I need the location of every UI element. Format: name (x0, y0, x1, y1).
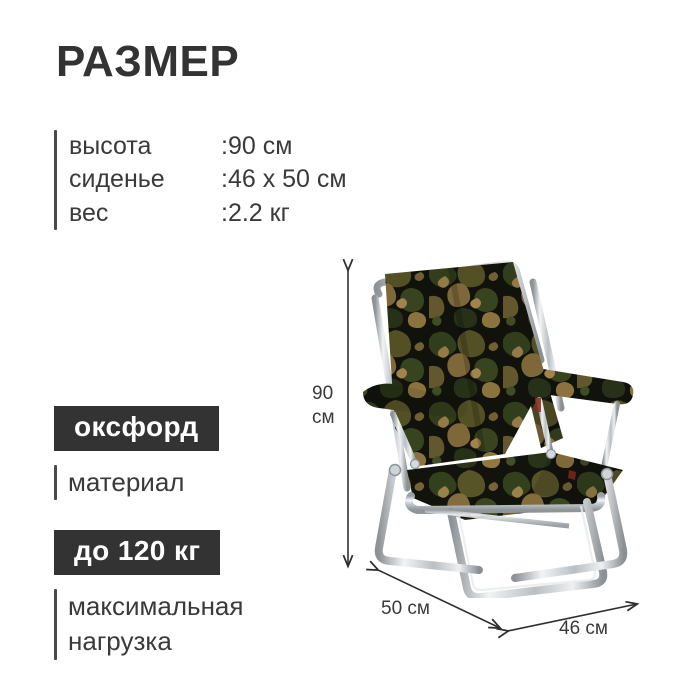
max-load-accent-bar (54, 589, 57, 660)
specs-accent-bar (54, 130, 57, 230)
feature-max-load: до 120 кг максимальная нагрузка (54, 530, 243, 660)
spec-separator: : (221, 130, 228, 163)
spec-value: 2.2 кг (228, 197, 347, 230)
spec-key: высота (69, 130, 221, 163)
max-load-caption: максимальная нагрузка (68, 589, 243, 660)
material-badge: оксфорд (54, 406, 219, 451)
spec-separator: : (221, 163, 228, 196)
spec-separator: : (221, 197, 228, 230)
max-load-badge: до 120 кг (54, 530, 220, 575)
width-dimension-label: 46 см (559, 617, 608, 641)
material-caption-row: материал (54, 465, 219, 500)
spec-key: сиденье (69, 163, 221, 196)
spec-value: 90 см (228, 130, 347, 163)
material-caption: материал (68, 465, 184, 500)
specs-block: высота : 90 см сиденье : 46 x 50 см вес … (54, 130, 347, 230)
specs-table: высота : 90 см сиденье : 46 x 50 см вес … (69, 130, 347, 230)
product-infographic: РАЗМЕР высота : 90 см сиденье : 46 x 50 … (0, 0, 700, 700)
feature-material: оксфорд материал (54, 406, 219, 500)
product-image-folding-chair (355, 258, 650, 598)
depth-dimension-label: 50 см (381, 597, 430, 621)
spec-row: вес : 2.2 кг (69, 197, 347, 230)
height-dimension-label: 90 см (312, 382, 335, 430)
spec-row: высота : 90 см (69, 130, 347, 163)
spec-key: вес (69, 197, 221, 230)
max-load-caption-row: максимальная нагрузка (54, 589, 243, 660)
material-accent-bar (54, 465, 57, 500)
spec-value: 46 x 50 см (228, 163, 347, 196)
spec-row: сиденье : 46 x 50 см (69, 163, 347, 196)
page-title: РАЗМЕР (56, 38, 239, 86)
